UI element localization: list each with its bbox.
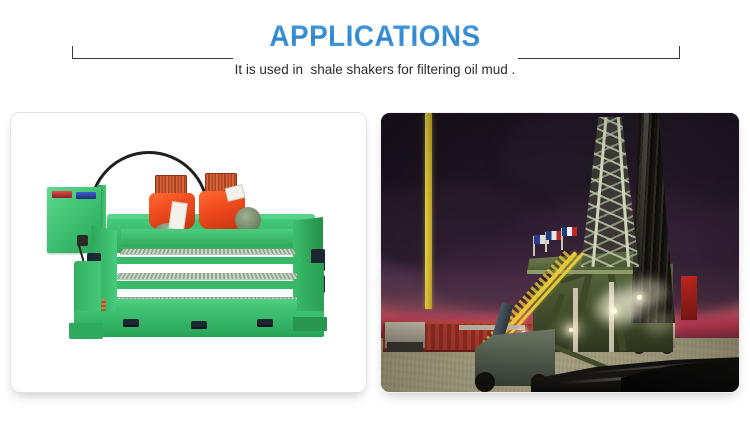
application-images-row (0, 112, 750, 397)
page-header: APPLICATIONS It is used in shale shakers… (0, 0, 750, 100)
work-light-1 (611, 308, 617, 314)
motor-mounting-deck (121, 229, 307, 247)
rule-end-cap-right (679, 46, 680, 59)
red-rig-banner (681, 276, 697, 320)
skid-mount-1 (123, 319, 139, 327)
work-light-4 (569, 328, 573, 332)
derrick-yellow-track (425, 113, 432, 309)
foreground-crane-wheel-1 (475, 372, 495, 392)
rule-bar-right (518, 58, 680, 59)
shale-shaker-illustration (11, 113, 366, 392)
indicator-light-red (52, 191, 72, 198)
drilling-rig-photo (381, 113, 739, 392)
screen-deck-top (119, 249, 297, 255)
header-rule-right (518, 46, 680, 59)
skid-mount-2 (191, 321, 207, 329)
screen-deck-middle-rail (111, 281, 303, 289)
walkway-canopy (459, 325, 525, 330)
indicator-light-blue (76, 192, 96, 199)
screen-deck-middle (115, 273, 301, 280)
drilling-rig-image-card (380, 112, 740, 393)
applications-page: APPLICATIONS It is used in shale shakers… (0, 0, 750, 433)
page-subtitle: It is used in shale shakers for filterin… (0, 62, 750, 77)
work-light-glow-4 (643, 310, 673, 334)
skid-foot-left (69, 323, 103, 339)
skid-mount-3 (257, 319, 273, 327)
work-light-2 (637, 295, 642, 300)
shale-shaker-image-card (10, 112, 367, 393)
site-trailer-chassis (387, 342, 423, 352)
rule-bar-left (72, 58, 233, 59)
screen-deck-top-rail (115, 257, 301, 264)
skid-foot-right (293, 317, 327, 331)
work-light-glow-2 (627, 278, 667, 308)
